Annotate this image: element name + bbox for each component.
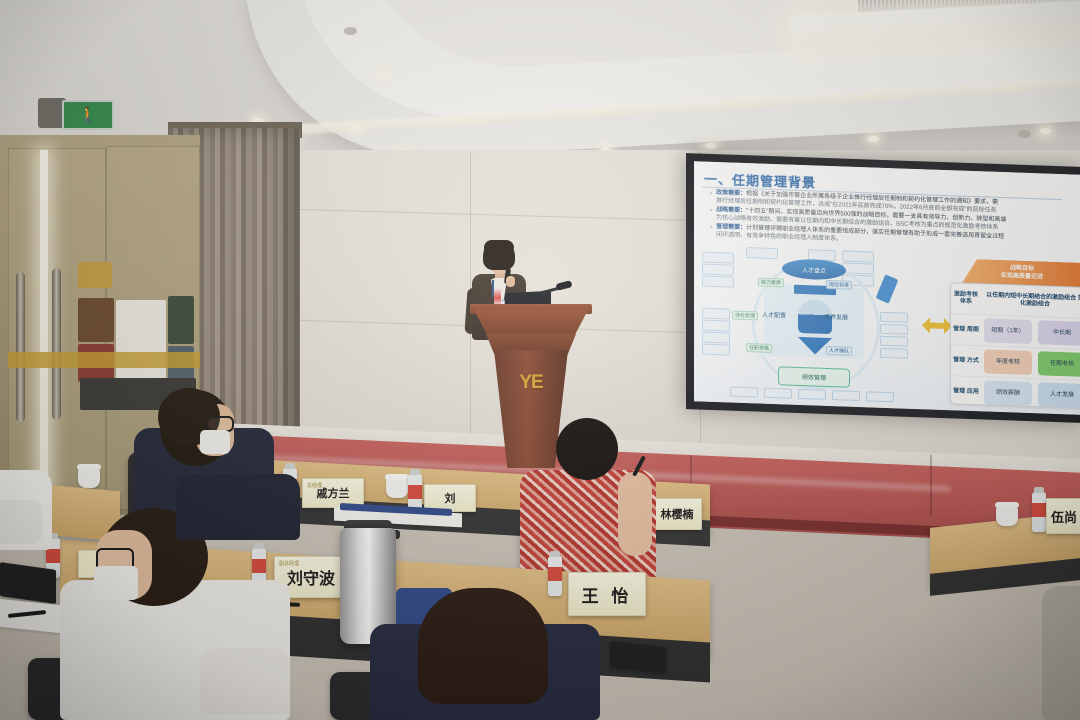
speaker-hand [506, 276, 515, 287]
downlight [705, 143, 716, 149]
diagram-footer-box [832, 390, 860, 401]
table-row: 管理 应用 绩效薪酬 人才发展 [951, 376, 1080, 409]
table-header-value: 以任期内短中长期结合的激励组合 范化激励组合 [984, 287, 1080, 315]
diagram-side-box [880, 336, 908, 347]
running-person-icon: 🚶 [79, 108, 98, 123]
attendee-arm [200, 648, 290, 714]
diagram-side-box [880, 324, 908, 335]
wall-yellow-band [8, 352, 200, 368]
diagram-side-box [702, 308, 730, 320]
cycle-node-right: 培养发展 [824, 312, 848, 322]
attendee-torso [1042, 586, 1080, 720]
placard-name: 刘 [445, 490, 456, 506]
diagram-side-box [702, 264, 734, 276]
bottle-cap [550, 551, 560, 557]
conference-room-photo: 🚶 一、任期管理背景 ▪ 政策需要：根据《关于加强市管企业所属各级子企业推行经理… [0, 0, 1080, 720]
cycle-node-bottom: 绩效管理 [778, 366, 850, 388]
placard-name: 刘守波 [287, 565, 335, 589]
stage-seam [930, 455, 932, 515]
cycle-tag: 能力素质 [758, 277, 784, 287]
water-bottle [548, 556, 562, 596]
attendee-arm [0, 500, 42, 544]
table-row-header: 激励考核 体系 以任期内短中长期结合的激励组合 范化激励组合 [951, 283, 1080, 319]
name-placard: 林樱楠 [652, 498, 702, 530]
door-handle-left[interactable] [16, 272, 25, 422]
diagram-footer-box [798, 389, 826, 400]
downlight [378, 72, 389, 78]
table-cell: 任期考核 [1038, 351, 1080, 377]
diagram-side-box [842, 250, 874, 262]
door-handle-right[interactable] [52, 268, 61, 420]
tea-cup [78, 468, 100, 488]
table-cell: 短期（1年） [984, 318, 1032, 344]
attendee-arm [618, 472, 652, 556]
table-cell: 中长期 [1038, 320, 1080, 346]
bullet-dash-icon: ▪ [710, 207, 712, 222]
diagram-blue-tab [876, 274, 899, 303]
diagram-side-box [702, 332, 730, 344]
bottle-cap [1034, 487, 1044, 493]
wall-display-photo-3 [168, 296, 194, 344]
bottle-cap [410, 469, 420, 475]
table-row-label: 管理 方式 [951, 345, 981, 376]
bullet-dash-icon: ▪ [710, 224, 712, 239]
diagram-footer-box [866, 391, 894, 402]
attendee-hair [556, 418, 618, 480]
table-cell: 绩效薪酬 [984, 380, 1032, 406]
placard-name: 伍尚 [1051, 507, 1077, 526]
tea-cup [386, 478, 408, 498]
diagram-side-box [702, 320, 730, 332]
face-mask [94, 566, 138, 600]
bottle-cap [254, 543, 264, 549]
table-row-label: 管理 应用 [951, 376, 981, 407]
tea-cup-lid [385, 474, 409, 480]
podium-top [474, 310, 588, 336]
table-cell: 年度考核 [984, 349, 1032, 375]
downlight [352, 125, 363, 131]
cycle-node-left: 人才配置 [762, 310, 786, 320]
table-row-label: 激励考核 体系 [951, 283, 981, 314]
table-row: 管理 方式 年度考核 任期考核 [951, 345, 1080, 381]
projection-screen[interactable]: 一、任期管理背景 ▪ 政策需要：根据《关于加强市管企业所属各级子企业推行经理层任… [694, 161, 1080, 414]
placard-org: 总经理 [307, 482, 322, 489]
table-row: 管理 周期 短期（1年） 中长期 [951, 314, 1080, 350]
podium-logo: YE [516, 372, 546, 394]
cycle-tag: 评价反馈 [732, 311, 758, 321]
diagram-side-box [702, 276, 734, 288]
table-row-label: 管理 周期 [951, 314, 981, 345]
placard-org: 副总经理 [279, 560, 299, 567]
diagram-side-box [880, 312, 908, 323]
sprinkler-head [1018, 130, 1031, 138]
cycle-tag: 人才梯队 [826, 346, 852, 356]
laptop[interactable] [0, 562, 56, 604]
door-edge-light [40, 150, 48, 500]
wall-display-photo-1 [78, 298, 114, 342]
diagram-side-box [746, 247, 778, 259]
sprinkler-head [344, 27, 357, 35]
face-mask [200, 430, 230, 454]
tea-cup-lid [995, 502, 1019, 508]
placard-name: 王 怡 [582, 582, 633, 607]
cycle-tag: 任职资格 [746, 343, 772, 353]
diagram-footer-box [730, 387, 758, 398]
exit-sign: 🚶 [62, 100, 114, 130]
slide-bullet-list: ▪ 政策需要：根据《关于加强市管企业所属各级子企业推行经理层任期制和契约化管理工… [710, 190, 1070, 254]
attendee-torso [176, 474, 300, 540]
tea-cup [996, 506, 1018, 526]
downlight [1040, 128, 1051, 134]
placard-name: 林樱楠 [661, 506, 694, 522]
wall-brand-mark [78, 262, 112, 288]
incentive-table: 激励考核 体系 以任期内短中长期结合的激励组合 范化激励组合 管理 周期 短期（… [950, 282, 1080, 409]
name-placard: 伍尚 [1046, 498, 1080, 534]
bottle-cap [285, 463, 295, 469]
diagram-footer-box [764, 388, 792, 399]
bullet-dash-icon: ▪ [710, 190, 712, 205]
wall-display-board [116, 300, 166, 382]
attendee-hair [418, 588, 548, 704]
cycle-tag: 岗位标准 [826, 280, 852, 290]
talent-cycle-diagram: 人才盘点 人才配置 培养发展 绩效管理 能力素质 岗位标准 任职资格 人才梯队 … [702, 246, 920, 404]
water-bottle [1032, 492, 1046, 532]
double-arrow-icon [922, 317, 952, 334]
presentation-slide: 一、任期管理背景 ▪ 政策需要：根据《关于加强市管企业所属各级子企业推行经理层任… [694, 161, 1080, 414]
diagram-side-box [880, 348, 908, 359]
table-cell: 人才发展 [1038, 382, 1080, 408]
downlight [868, 136, 879, 142]
speaker-hair-fringe [484, 240, 514, 252]
diagram-side-box [702, 252, 734, 264]
diagram-side-box [702, 344, 730, 356]
name-placard: 王 怡 [568, 572, 646, 616]
tea-cup-lid [77, 464, 101, 470]
